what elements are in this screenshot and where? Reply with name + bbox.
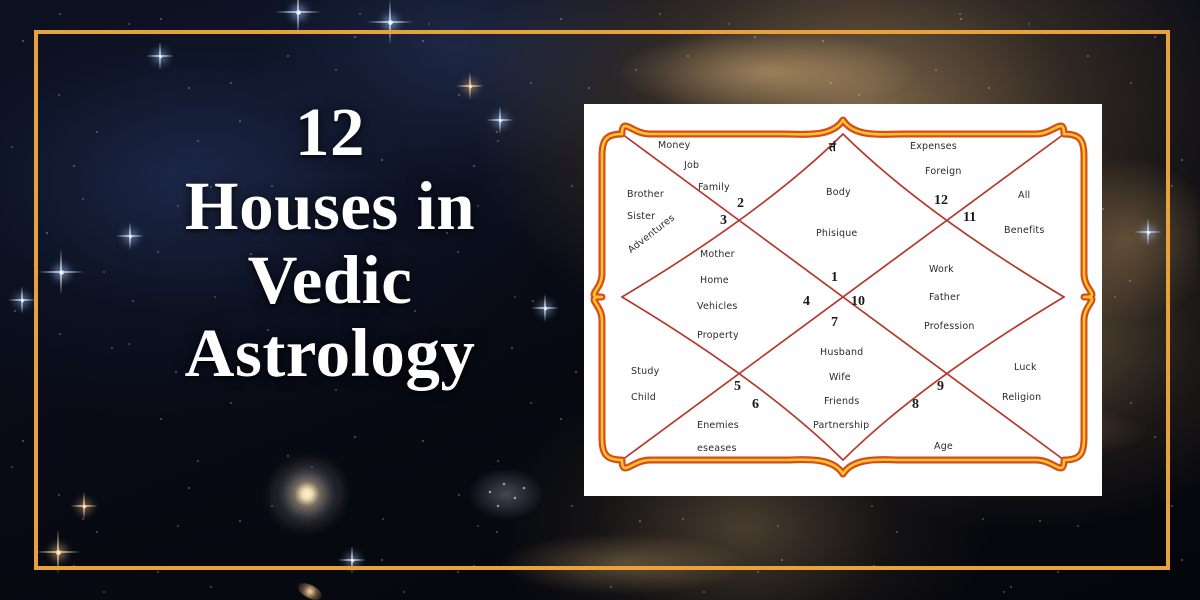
chart-label-partnership: Partnership	[813, 420, 869, 431]
chart-label-vehicles: Vehicles	[697, 301, 738, 312]
chart-label-n7: 7	[831, 315, 838, 331]
title-line-4: Astrology	[120, 317, 540, 391]
chart-label-brother: Brother	[627, 189, 664, 200]
chart-label-property: Property	[697, 330, 739, 341]
chart-label-n2: 2	[737, 196, 744, 212]
chart-label-family: Family	[698, 182, 730, 193]
chart-label-all: All	[1018, 190, 1030, 201]
chart-label-eseases: eseases	[697, 443, 737, 454]
chart-label-benefits: Benefits	[1004, 225, 1045, 236]
chart-label-expenses: Expenses	[910, 141, 957, 152]
house-division-lines	[622, 134, 1064, 460]
chart-label-friends: Friends	[824, 396, 860, 407]
chart-label-n5: 5	[734, 379, 741, 395]
page-title: 12 Houses in Vedic Astrology	[120, 96, 540, 391]
chart-label-father: Father	[929, 292, 960, 303]
chart-label-profession: Profession	[924, 321, 975, 332]
chart-label-n10: 10	[851, 294, 865, 310]
chart-label-enemies: Enemies	[697, 420, 739, 431]
chart-label-n11: 11	[963, 210, 976, 226]
title-line-3: Vedic	[120, 244, 540, 318]
chart-label-wife: Wife	[829, 372, 851, 383]
chart-label-n4: 4	[803, 294, 810, 310]
kundli-diagram	[584, 104, 1102, 496]
chart-label-job: Job	[684, 160, 699, 171]
chart-label-home: Home	[700, 275, 729, 286]
chart-label-child: Child	[631, 392, 656, 403]
chart-label-sister: Sister	[627, 211, 655, 222]
chart-label-n3: 3	[720, 213, 727, 229]
chart-label-glyph1: तं	[829, 138, 836, 155]
vedic-chart-panel: MoneyJobFamilyBrotherSisterAdventuresMot…	[584, 104, 1102, 496]
chart-label-husband: Husband	[820, 347, 863, 358]
chart-label-n12: 12	[934, 193, 948, 209]
chart-label-mother: Mother	[700, 249, 735, 260]
chart-label-phisique: Phisique	[816, 228, 857, 239]
title-line-2: Houses in	[120, 170, 540, 244]
chart-label-luck: Luck	[1014, 362, 1037, 373]
banner-root: 12 Houses in Vedic Astrology Mon	[0, 0, 1200, 600]
chart-label-study: Study	[631, 366, 659, 377]
chart-label-n1: 1	[831, 270, 838, 286]
chart-label-body: Body	[826, 187, 851, 198]
chart-label-n9: 9	[937, 379, 944, 395]
chart-label-n8: 8	[912, 397, 919, 413]
chart-label-money: Money	[658, 140, 691, 151]
chart-label-n6: 6	[752, 397, 759, 413]
chart-label-work: Work	[929, 264, 954, 275]
chart-label-age: Age	[934, 441, 953, 452]
star-cluster	[470, 470, 560, 540]
chart-label-foreign: Foreign	[925, 166, 962, 177]
title-line-1: 12	[120, 96, 540, 170]
chart-label-religion: Religion	[1002, 392, 1041, 403]
